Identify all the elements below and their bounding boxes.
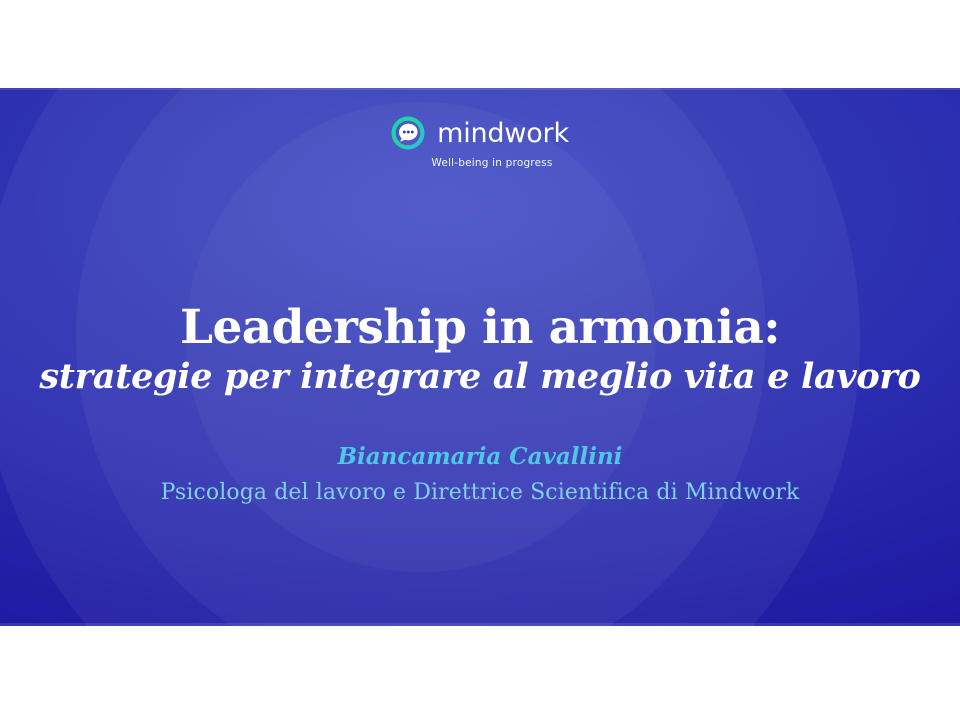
brand-tagline: Well-being in progress <box>431 157 552 169</box>
mindwork-speech-bubble-icon <box>391 116 425 150</box>
brand-wordmark: mindwork <box>437 120 569 147</box>
logo-row: mindwork <box>391 116 569 150</box>
slide-title: Leadership in armonia: <box>0 303 960 353</box>
presentation-slide: mindwork Well-being in progress Leadersh… <box>0 88 960 626</box>
speaker-block: Biancamaria Cavallini Psicologa del lavo… <box>0 443 960 506</box>
slide-bottom-edge <box>0 623 960 626</box>
slide-top-edge <box>0 88 960 90</box>
page-canvas: mindwork Well-being in progress Leadersh… <box>0 0 960 720</box>
speaker-role: Psicologa del lavoro e Direttrice Scient… <box>0 480 960 506</box>
brand-logo-lockup: mindwork Well-being in progress <box>0 116 960 169</box>
speaker-name: Biancamaria Cavallini <box>0 443 960 471</box>
title-block: Leadership in armonia: strategie per int… <box>0 303 960 396</box>
slide-subtitle: strategie per integrare al meglio vita e… <box>0 358 960 396</box>
